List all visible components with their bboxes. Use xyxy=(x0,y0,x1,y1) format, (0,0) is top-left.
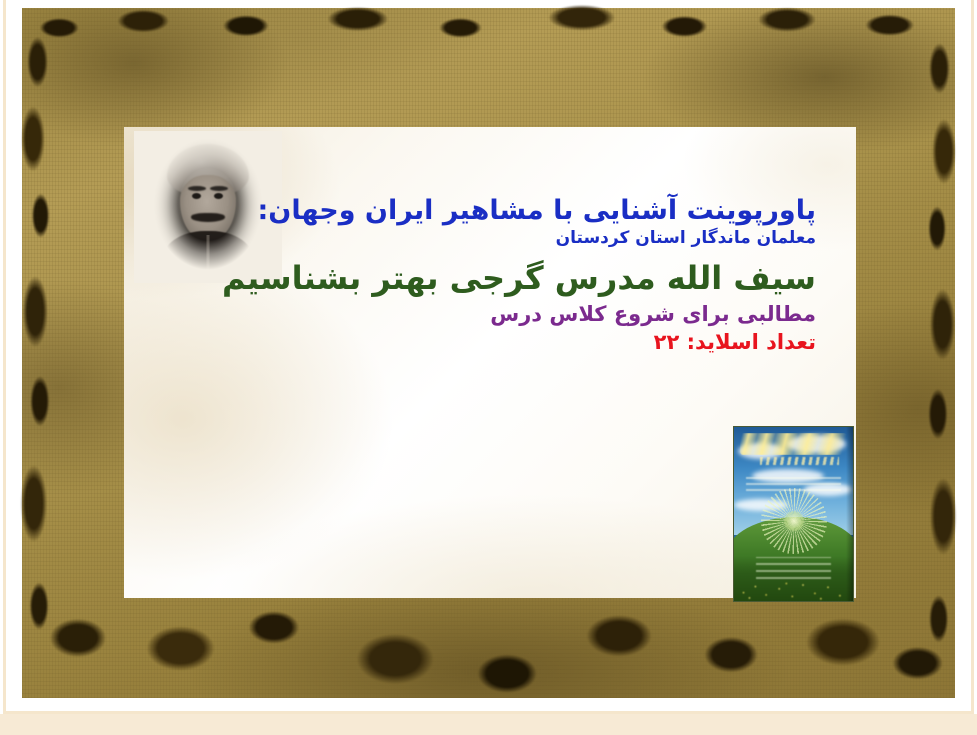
slide-count-label: تعداد اسلاید: ۲۲ xyxy=(256,331,816,354)
book-cover-subtitle-text xyxy=(760,457,839,465)
book-cover-footer-text xyxy=(756,557,831,579)
book-cover-thumbnail xyxy=(733,426,854,602)
page-rule-right xyxy=(971,0,974,714)
title-text-block: پاورپوینت آشنایی با مشاهیر ایران وجهان: … xyxy=(256,196,816,353)
slide-canvas: پاورپوینت آشنایی با مشاهیر ایران وجهان: … xyxy=(0,0,977,735)
person-name-heading: سیف الله مدرس گرجی بهتر بشناسیم xyxy=(256,261,816,296)
book-cover-byline-text xyxy=(746,473,841,491)
page-rule-left xyxy=(3,0,6,714)
presentation-title: پاورپوینت آشنایی با مشاهیر ایران وجهان: xyxy=(256,196,816,225)
page-bottom-strip xyxy=(0,714,977,735)
presentation-subtitle: معلمان ماندگار استان کردستان xyxy=(256,229,816,247)
mandala-core xyxy=(784,511,804,531)
book-cover-title-calligraphy xyxy=(740,433,847,455)
book-spine-shadow xyxy=(846,427,853,601)
lesson-note: مطالبی برای شروع کلاس درس xyxy=(256,303,816,326)
